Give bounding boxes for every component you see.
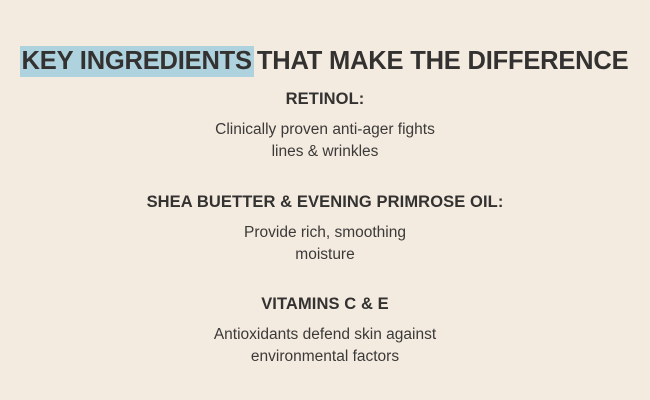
ingredient-description: Antioxidants defend skin against environ… — [0, 324, 650, 367]
page-title: KEY INGREDIENTSTHAT MAKE THE DIFFERENCE — [0, 47, 650, 75]
ingredient-item: VITAMINS C & E Antioxidants defend skin … — [0, 293, 650, 367]
ingredient-title: VITAMINS C & E — [0, 293, 650, 315]
ingredient-title: SHEA BUETTER & EVENING PRIMROSE OIL: — [0, 191, 650, 213]
ingredient-title: RETINOL: — [0, 88, 650, 110]
page-title-highlighted-text: KEY INGREDIENTS — [20, 46, 254, 77]
ingredients-slide: KEY INGREDIENTSTHAT MAKE THE DIFFERENCE … — [0, 0, 650, 400]
ingredient-item: SHEA BUETTER & EVENING PRIMROSE OIL: Pro… — [0, 191, 650, 265]
ingredient-description: Provide rich, smoothing moisture — [0, 222, 650, 265]
ingredient-item: RETINOL: Clinically proven anti-ager fig… — [0, 88, 650, 162]
ingredient-description: Clinically proven anti-ager fights lines… — [0, 119, 650, 162]
ingredient-list: RETINOL: Clinically proven anti-ager fig… — [0, 88, 650, 367]
page-title-rest-text: THAT MAKE THE DIFFERENCE — [254, 47, 629, 75]
